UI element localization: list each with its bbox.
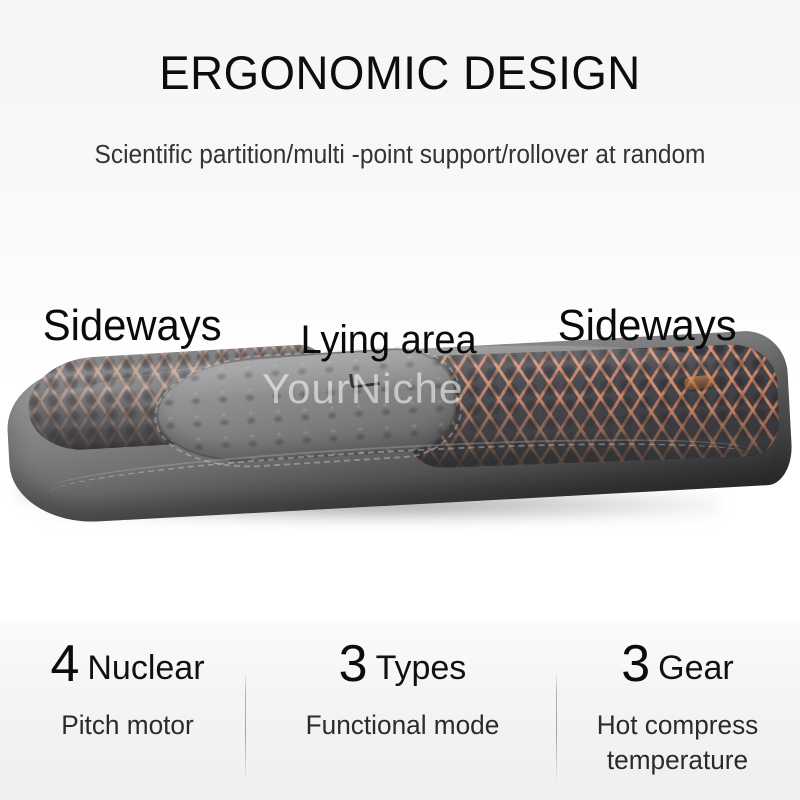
stat-hot-compress: 3Gear Hot compress temperature [560,620,795,800]
spec-stats-section: 4Nuclear Pitch motor 3Types Functional m… [0,620,800,800]
zone-label-left-sideways: Sideways [43,302,222,350]
stat-heading: 3Gear [560,636,795,696]
stat-divider-1 [245,672,246,784]
stat-unit: Gear [658,649,734,687]
stat-unit: Types [376,649,467,687]
zone-label-lying-area: Lying area [301,318,477,362]
stat-description: Hot compress temperature [564,708,792,778]
header-section: ERGONOMIC DESIGN Scientific partition/mu… [0,0,800,230]
stat-number: 3 [339,635,368,693]
page-subtitle: Scientific partition/multi -point suppor… [16,138,784,172]
stat-number: 3 [621,635,650,693]
stat-heading: 3Types [250,636,555,696]
stat-number: 4 [50,635,79,693]
stat-pitch-motor: 4Nuclear Pitch motor [10,620,245,800]
zone-label-overlay: Sideways Lying area Sideways [0,230,800,620]
stat-unit: Nuclear [87,649,204,687]
stat-description: Functional mode [255,708,551,743]
stat-functional-mode: 3Types Functional mode [250,620,555,800]
page-title: ERGONOMIC DESIGN [12,45,788,101]
stat-description: Pitch motor [14,708,242,743]
zone-label-right-sideways: Sideways [558,302,737,350]
stat-divider-2 [556,672,557,784]
stat-heading: 4Nuclear [10,636,245,696]
product-banner: ERGONOMIC DESIGN Scientific partition/mu… [0,0,800,800]
